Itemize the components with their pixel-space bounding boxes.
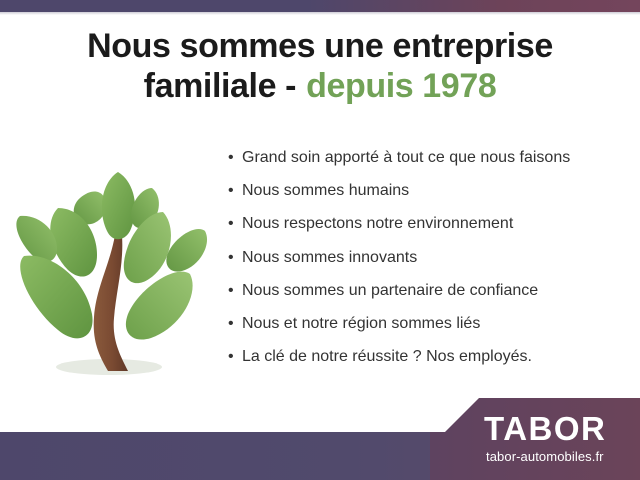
tree-leaf-top-center: [102, 172, 135, 239]
list-item-text: Grand soin apporté à tout ce que nous fa…: [242, 148, 628, 167]
bullet-marker-icon: •: [228, 150, 242, 166]
logo-tagline: tabor-automobiles.fr: [486, 450, 636, 463]
logo-wordmark: TABOR: [484, 412, 636, 445]
list-item: • Nous sommes un partenaire de confiance: [228, 281, 628, 300]
brand-logo[interactable]: TABOR tabor-automobiles.fr: [484, 412, 636, 463]
top-accent-bar-shadow: [0, 12, 640, 15]
list-item: • Nous et notre région sommes liés: [228, 314, 628, 333]
bullet-marker-icon: •: [228, 216, 242, 232]
list-item: • La clé de notre réussite ? Nos employé…: [228, 347, 628, 366]
list-item: • Nous sommes humains: [228, 181, 628, 200]
list-item-text: Nous sommes un partenaire de confiance: [242, 281, 628, 300]
top-accent-bar: [0, 0, 640, 12]
bullet-marker-icon: •: [228, 183, 242, 199]
list-item-text: La clé de notre réussite ? Nos employés.: [242, 347, 628, 366]
heading-line-2: familiale -depuis 1978: [0, 66, 640, 106]
list-item-text: Nous sommes innovants: [242, 248, 628, 267]
bullet-marker-icon: •: [228, 283, 242, 299]
bullet-marker-icon: •: [228, 316, 242, 332]
slide-canvas: Nous sommes une entreprise familiale -de…: [0, 0, 640, 480]
tree-trunk: [94, 231, 128, 371]
heading-line-2-prefix: familiale -: [144, 67, 296, 105]
heading-line-1: Nous sommes une entreprise: [0, 26, 640, 66]
heading-line-2-accent: depuis 1978: [306, 67, 496, 105]
list-item: • Nous sommes innovants: [228, 248, 628, 267]
bullet-marker-icon: •: [228, 250, 242, 266]
list-item: • Nous respectons notre environnement: [228, 214, 628, 233]
tree-illustration: [14, 152, 214, 387]
bullet-marker-icon: •: [228, 349, 242, 365]
list-item-text: Nous sommes humains: [242, 181, 628, 200]
list-item-text: Nous et notre région sommes liés: [242, 314, 628, 333]
bullet-list: • Grand soin apporté à tout ce que nous …: [228, 148, 628, 366]
list-item-text: Nous respectons notre environnement: [242, 214, 628, 233]
tree-leaf-far-right: [166, 229, 207, 272]
list-item: • Grand soin apporté à tout ce que nous …: [228, 148, 628, 167]
slide-heading: Nous sommes une entreprise familiale -de…: [0, 26, 640, 106]
